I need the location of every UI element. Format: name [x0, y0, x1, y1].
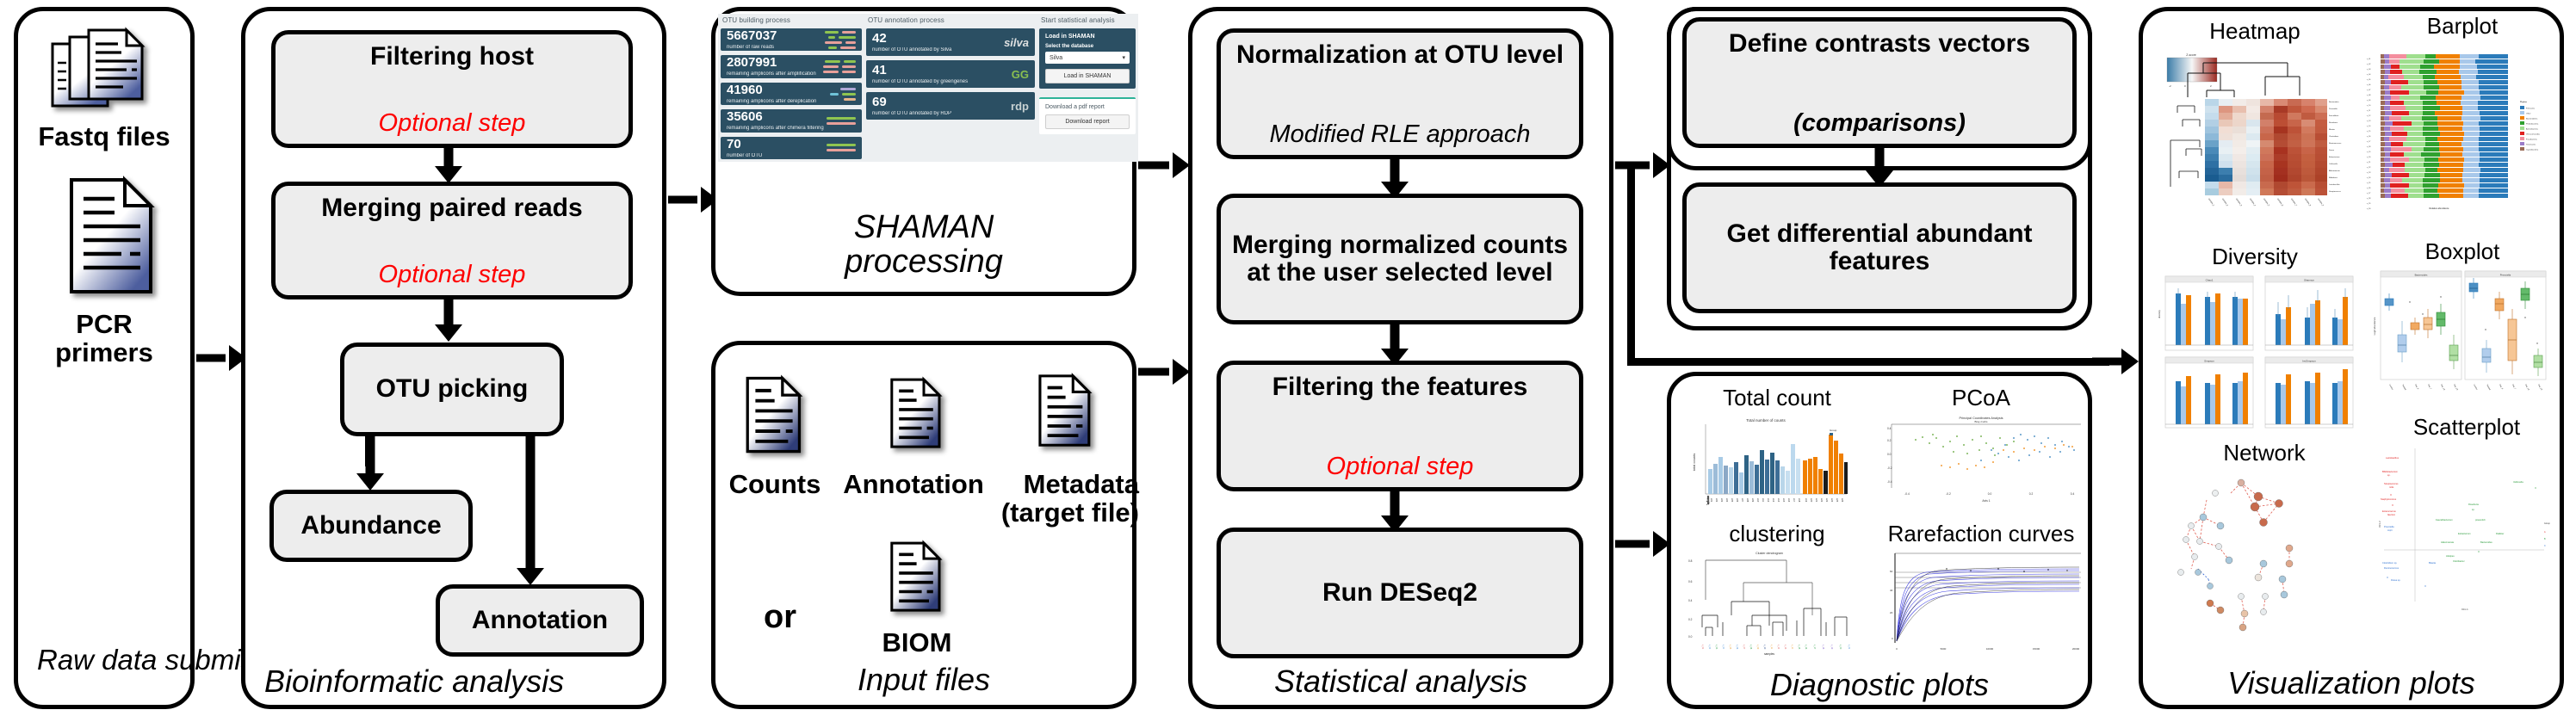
svg-text:sample_01: sample_01	[1706, 496, 1710, 505]
svg-text:samples: samples	[1764, 652, 1774, 656]
svg-text:Bifidobacterium: Bifidobacterium	[2382, 470, 2398, 473]
arrow-bioinformatic-to-shaman	[668, 186, 713, 213]
svg-text:s12: s12	[1767, 498, 1770, 503]
step-title: Annotation	[472, 607, 608, 634]
svg-text:s_14: s_14	[2367, 126, 2371, 127]
svg-text:0.0: 0.0	[1688, 635, 1693, 639]
svg-text:0.2: 0.2	[1688, 618, 1693, 621]
step-merging-paired-reads[interactable]: Merging paired reads Optional step	[271, 182, 633, 299]
panel-contrasts-outer	[1667, 7, 2092, 330]
step-run-deseq2[interactable]: Run DESeq2	[1217, 528, 1583, 658]
svg-text:0.4: 0.4	[1887, 427, 1892, 430]
svg-text:Streptococcus: Streptococcus	[2384, 482, 2399, 485]
svg-text:s_17: s_17	[2367, 141, 2371, 143]
svg-text:Treated: Treated	[2401, 384, 2407, 392]
svg-text:Dorea sp.: Dorea sp.	[2391, 578, 2401, 582]
svg-text:s07: s07	[1741, 498, 1744, 503]
arrow-statistical-to-diagnostic	[1615, 530, 1667, 558]
svg-text:s_01: s_01	[2367, 59, 2371, 60]
svg-text:s24: s24	[1830, 498, 1834, 503]
svg-text:Actinobacteria: Actinobacteria	[2526, 128, 2539, 131]
figure-barplot: Barplot s_01s_02s_03 s_04s_05s_06 s_07s_…	[2365, 15, 2560, 230]
figure-heatmap: Heatmap Z-score -202	[2152, 20, 2358, 235]
svg-text:Control: Control	[2473, 384, 2478, 391]
svg-text:Day_28: Day_28	[2453, 385, 2458, 392]
svg-text:s_10: s_10	[1763, 645, 1766, 650]
svg-text:Day_28: Day_28	[2537, 385, 2542, 392]
svg-text:Prevotella: Prevotella	[2500, 274, 2511, 277]
panel-caption-visualization: Visualization plots	[2143, 667, 2560, 700]
svg-text:s_01: s_01	[1701, 645, 1704, 650]
figure-title: clustering	[1683, 522, 1871, 545]
step-title: Abundance	[300, 512, 441, 540]
svg-text:Prevotella: Prevotella	[2384, 525, 2394, 528]
svg-text:sample_1: sample_1	[2208, 198, 2215, 207]
svg-text:Cluster dendrogram: Cluster dendrogram	[1756, 552, 1783, 555]
svg-text:s_19: s_19	[1830, 645, 1833, 650]
svg-text:sample_9: sample_9	[2317, 198, 2325, 207]
shaman-stat-card[interactable]: 42 number of OTU annotated by Silva silv…	[866, 28, 1035, 56]
shaman-load-title: Load in SHAMAN	[1045, 34, 1130, 40]
svg-text:s_20: s_20	[1839, 645, 1842, 650]
step-title: Filtering host	[370, 43, 534, 71]
svg-text:-0.4: -0.4	[1904, 492, 1910, 496]
svg-text:0: 0	[1896, 647, 1898, 651]
panel-caption-input-files: Input files	[715, 664, 1132, 696]
svg-text:s_02: s_02	[2367, 64, 2371, 65]
shaman-load-panel: Load in SHAMAN Select the database Silva…	[1039, 28, 1136, 89]
svg-text:s23: s23	[1825, 498, 1829, 503]
svg-text:s_21: s_21	[1848, 645, 1850, 650]
svg-text:s_07: s_07	[1743, 645, 1745, 650]
panel-bioinformatic-analysis: Filtering host Optional step Merging pai…	[241, 7, 666, 709]
svg-text:s_23: s_23	[2367, 172, 2371, 174]
shaman-stat-value: 70	[727, 138, 762, 151]
svg-text:Dim 1: Dim 1	[2461, 608, 2468, 611]
document-icon-biom	[888, 538, 944, 617]
svg-text:Collinsella: Collinsella	[2329, 164, 2338, 165]
svg-text:0.2: 0.2	[2029, 492, 2034, 496]
shaman-column-header: OTU building process	[721, 16, 862, 24]
svg-text:s26: s26	[1841, 498, 1844, 503]
input-file-label-annotation: Annotation	[827, 471, 1000, 499]
svg-text:InvSimpson: InvSimpson	[2302, 360, 2316, 363]
shaman-stat-value: 42	[872, 32, 951, 45]
svg-text:s_10: s_10	[2367, 105, 2371, 107]
svg-text:s11: s11	[1762, 498, 1765, 503]
svg-text:s_03: s_03	[2367, 69, 2371, 71]
shaman-stat-desc: number of OTU annotated by greengenes	[872, 79, 968, 85]
svg-text:sample_8: sample_8	[2304, 198, 2312, 207]
svg-text:Chao1: Chao1	[2206, 279, 2214, 282]
shaman-column-otu-annotation: OTU annotation process 42 number of OTU …	[866, 16, 1035, 159]
svg-text:s17: s17	[1793, 498, 1796, 503]
svg-text:s_28: s_28	[2367, 198, 2371, 200]
arrow-merging-to-otu	[430, 299, 468, 343]
figure-clustering: clustering Cluster dendrogram 0.80.60.4 …	[1683, 522, 1871, 660]
svg-text:s_11: s_11	[2367, 110, 2371, 112]
step-abundance[interactable]: Abundance	[269, 490, 473, 562]
svg-text:0.4: 0.4	[2071, 492, 2075, 496]
svg-text:Bacteroidetes: Bacteroidetes	[2526, 118, 2538, 120]
arrow-raw-to-bioinformatic	[196, 344, 241, 372]
svg-text:Odoribacter: Odoribacter	[2453, 559, 2465, 563]
workflow-diagram: Fastq files	[0, 0, 2576, 716]
panel-caption-raw-data: Raw data submission	[18, 645, 190, 676]
svg-text:Group: Group	[2544, 522, 2550, 525]
step-otu-picking[interactable]: OTU picking	[340, 343, 564, 436]
svg-text:s_19: s_19	[2367, 151, 2371, 153]
svg-text:Dorea: Dorea	[2329, 149, 2335, 151]
step-title: Normalization at OTU level	[1236, 41, 1564, 69]
svg-text:s_18: s_18	[2367, 146, 2371, 148]
svg-text:s18: s18	[1798, 498, 1801, 503]
input-files-or-label: or	[733, 600, 827, 634]
svg-text:Eubacterium: Eubacterium	[2458, 532, 2471, 535]
svg-text:Bifidobact.: Bifidobact.	[2329, 176, 2338, 179]
figure-scatterplot: Scatterplot Lactobacillus Bifidobacteriu…	[2375, 416, 2558, 639]
svg-text:s_07: s_07	[2367, 89, 2371, 91]
svg-text:s02: s02	[1715, 498, 1718, 503]
svg-text:s_22: s_22	[2367, 167, 2371, 169]
shaman-stat-card[interactable]: 70 number of OTU	[721, 137, 862, 159]
svg-text:C: C	[2544, 545, 2546, 547]
svg-text:s_09: s_09	[1756, 645, 1759, 650]
shaman-stat-card[interactable]: 2807991 remaining amplicons after amplif…	[721, 55, 862, 77]
svg-text:Faecalibacterium: Faecalibacterium	[2436, 518, 2453, 522]
svg-text:s_16: s_16	[1805, 645, 1807, 650]
greengenes-logo-icon: GG	[1012, 68, 1029, 81]
step-normalization-otu-level[interactable]: Normalization at OTU level Modified RLE …	[1217, 28, 1583, 159]
svg-text:s19: s19	[1805, 498, 1808, 503]
sparkline-icon	[830, 88, 856, 101]
svg-text:-0.2: -0.2	[1887, 466, 1892, 470]
svg-text:s10: s10	[1756, 498, 1760, 503]
svg-text:s20: s20	[1810, 498, 1813, 503]
svg-text:s_15: s_15	[1798, 645, 1800, 650]
shaman-sidebar-header: Start statistical analysis	[1039, 16, 1136, 24]
svg-text:Day_14: Day_14	[2524, 385, 2530, 392]
figure-diversity: Diversity Chao1	[2152, 245, 2358, 435]
svg-text:Day_0: Day_0	[2499, 385, 2503, 391]
svg-text:Day_0: Day_0	[2414, 385, 2418, 391]
document-icon-counts	[743, 374, 805, 457]
sparkline-icon	[823, 60, 856, 73]
arrow-statistical-to-contrasts	[1615, 151, 1667, 179]
svg-text:Bray-Curtis: Bray-Curtis	[1974, 420, 1988, 423]
shaman-stat-card[interactable]: 41960 remaining amplicons after dereplic…	[721, 83, 862, 105]
figure-title: PCoA	[1878, 386, 2084, 409]
step-annotation[interactable]: Annotation	[436, 584, 644, 657]
figure-title: Boxplot	[2365, 240, 2560, 262]
shaman-stat-card[interactable]: 35606 remaining amplicons after chimera …	[721, 109, 862, 132]
svg-text:Ruminococcus: Ruminococcus	[2329, 143, 2342, 145]
svg-text:0.0: 0.0	[1988, 492, 1992, 496]
svg-text:-2: -2	[2169, 84, 2171, 88]
panel-caption-shaman: SHAMAN processing	[715, 211, 1132, 280]
shaman-stat-desc: remaining amplicons after chimera filter…	[727, 126, 824, 132]
input-file-label-counts: Counts	[721, 471, 829, 499]
svg-text:s03: s03	[1720, 498, 1724, 503]
panel-caption-bioinformatic: Bioinformatic analysis	[245, 665, 662, 698]
figure-title: Barplot	[2365, 15, 2560, 37]
figure-total-count: Total count Total number of counts total…	[1683, 386, 1871, 507]
shaman-stat-desc: number of OTU annotated by RDP	[872, 111, 951, 117]
svg-text:s_03: s_03	[1715, 645, 1718, 650]
step-title: Merging paired reads	[321, 194, 582, 222]
svg-text:Bacteroides: Bacteroides	[2480, 540, 2492, 544]
shaman-stat-value: 35606	[727, 110, 824, 123]
svg-text:Verrucomicrobia: Verrucomicrobia	[2526, 133, 2541, 136]
svg-text:B: B	[2544, 538, 2546, 540]
shaman-column-header: OTU annotation process	[866, 16, 1035, 24]
svg-text:0.2: 0.2	[1887, 439, 1892, 442]
raw-data-item-label-1: PCR primers	[18, 311, 190, 367]
svg-text:s_14: s_14	[1791, 645, 1793, 650]
step-subtitle: Optional step	[379, 262, 526, 288]
sparkline-icon	[827, 117, 856, 125]
svg-text:s09: s09	[1751, 498, 1755, 503]
panel-visualization-plots: Heatmap Z-score -202	[2139, 7, 2564, 709]
svg-text:Akkermansia: Akkermansia	[2329, 170, 2340, 172]
input-file-label-biom: BIOM	[850, 629, 984, 657]
svg-text:sample_4: sample_4	[2249, 198, 2257, 207]
svg-text:sample_2: sample_2	[2221, 198, 2229, 207]
svg-text:s05: s05	[1731, 498, 1734, 503]
shaman-stat-value: 2807991	[727, 56, 816, 69]
svg-text:s01: s01	[1710, 498, 1713, 503]
svg-text:Lactobacillus: Lactobacillus	[2329, 183, 2341, 186]
svg-text:s_25: s_25	[2367, 182, 2371, 184]
svg-text:s_08: s_08	[1749, 645, 1752, 650]
panel-statistical-analysis: Normalization at OTU level Modified RLE …	[1188, 7, 1613, 709]
figure-title: Rarefaction curves	[1878, 522, 2084, 545]
arrow-filtering-to-deseq	[1376, 490, 1414, 533]
svg-text:Axis 1: Axis 1	[1982, 499, 1990, 503]
svg-text:Control: Control	[2388, 384, 2393, 391]
svg-text:s_30: s_30	[2367, 208, 2371, 210]
svg-text:s_13: s_13	[2367, 120, 2371, 122]
svg-text:s08: s08	[1746, 498, 1749, 503]
svg-text:s14: s14	[1777, 498, 1780, 503]
svg-text:s_05: s_05	[1729, 645, 1731, 650]
panel-shaman-processing: OTU building process 5667037 number of r…	[711, 7, 1136, 296]
svg-text:10000: 10000	[1986, 647, 1994, 651]
figure-title: Heatmap	[2152, 20, 2358, 42]
figure-pcoa: PCoA Principal Coordinates Analysis Bray…	[1878, 386, 2084, 507]
svg-text:Shannon: Shannon	[2304, 279, 2314, 282]
svg-text:-0.4: -0.4	[1887, 480, 1892, 484]
svg-text:s16: s16	[1787, 498, 1791, 503]
arrow-merging-to-filtering	[1376, 323, 1414, 366]
svg-text:Clostridium sp.: Clostridium sp.	[2382, 561, 2397, 565]
svg-text:s_20: s_20	[2367, 157, 2371, 158]
svg-text:Relative abundance: Relative abundance	[2430, 207, 2449, 210]
svg-text:Dim 2: Dim 2	[2378, 521, 2381, 528]
step-title: Filtering the features	[1273, 373, 1528, 401]
download-report-button[interactable]: Download report	[1045, 114, 1130, 129]
figure-title: Total count	[1683, 386, 1871, 409]
svg-text:Roseburia: Roseburia	[2468, 503, 2479, 506]
arrow-otu-to-annotation	[511, 432, 549, 587]
connector-to-visualization-h	[1627, 358, 2109, 366]
svg-text:sp.: sp.	[2387, 474, 2391, 477]
step-subtitle: Optional step	[379, 110, 526, 137]
svg-text:60: 60	[1890, 570, 1893, 573]
figure-title: Network	[2162, 441, 2367, 464]
step-subtitle: Modified RLE approach	[1269, 121, 1530, 148]
figure-network: Network	[2162, 441, 2367, 682]
svg-text:Total number of counts: Total number of counts	[1746, 418, 1786, 423]
panel-caption-statistical: Statistical analysis	[1192, 665, 1609, 698]
svg-text:Simpson: Simpson	[2204, 360, 2214, 363]
shaman-stat-card[interactable]: 5667037 number of raw reads	[721, 28, 862, 51]
svg-text:Lactobacillus: Lactobacillus	[2386, 456, 2400, 460]
svg-text:Enterococcus: Enterococcus	[2382, 509, 2396, 513]
input-file-label-metadata: Metadata (target file)	[988, 471, 1139, 528]
shaman-stat-value: 41960	[727, 83, 816, 96]
shaman-stat-desc: number of OTU annotated by Silva	[872, 47, 951, 53]
svg-text:Treated: Treated	[2486, 384, 2492, 392]
figure-boxplot: Boxplot Bacteroides Prevotella	[2365, 240, 2560, 417]
svg-text:-0.2: -0.2	[1946, 492, 1951, 496]
rdp-logo-icon: rdp	[1011, 100, 1029, 113]
svg-text:Day_7: Day_7	[2511, 385, 2516, 391]
shaman-stat-desc: remaining amplicons after amplification	[727, 71, 816, 77]
svg-text:s_27: s_27	[2367, 193, 2371, 194]
svg-text:Roseburia: Roseburia	[2329, 121, 2338, 124]
svg-text:0.8: 0.8	[1688, 559, 1693, 563]
svg-text:Blautia: Blautia	[2429, 561, 2436, 565]
svg-text:sample_5: sample_5	[2263, 198, 2270, 207]
panel-input-files: Counts Annotation	[711, 341, 1136, 709]
figure-title: Diversity	[2152, 245, 2358, 268]
arrow-shaman-to-statistical	[1138, 151, 1186, 179]
sparkline-icon	[827, 144, 856, 151]
svg-text:s13: s13	[1772, 498, 1775, 503]
svg-text:Alistipes: Alistipes	[2446, 554, 2455, 558]
svg-text:20000: 20000	[2072, 647, 2080, 651]
svg-text:s22: s22	[1820, 498, 1824, 503]
shaman-download-panel: Download a pdf report Download report	[1039, 97, 1136, 134]
svg-text:copri: copri	[2387, 528, 2393, 532]
panel-diagnostic-plots: Total count Total number of counts total…	[1667, 372, 2092, 709]
svg-text:Eubacterium: Eubacterium	[2329, 156, 2339, 158]
step-merging-normalized-counts[interactable]: Merging normalized counts at the user se…	[1217, 194, 1583, 324]
svg-text:s04: s04	[1725, 498, 1729, 503]
shaman-screenshot[interactable]: OTU building process 5667037 number of r…	[718, 14, 1138, 162]
document-icon-metadata	[1036, 371, 1094, 452]
step-subtitle: Optional step	[1327, 454, 1474, 480]
svg-text:Firmicutes: Firmicutes	[2526, 108, 2536, 110]
svg-text:s_26: s_26	[2367, 188, 2371, 189]
svg-text:0.4: 0.4	[1688, 599, 1693, 602]
svg-text:Other: Other	[2526, 113, 2531, 115]
svg-text:Faecalibact.: Faecalibact.	[2329, 114, 2339, 117]
svg-text:s_06: s_06	[2367, 84, 2371, 86]
svg-text:prausnitzii: prausnitzii	[2475, 518, 2486, 522]
svg-text:s_12: s_12	[2367, 115, 2371, 117]
chevron-down-icon: ▾	[1122, 54, 1125, 61]
svg-text:Clostridium: Clostridium	[2329, 135, 2338, 138]
database-select-value: Silva	[1050, 55, 1062, 61]
svg-text:Cyanobacteria: Cyanobacteria	[2526, 149, 2539, 151]
svg-text:faecium: faecium	[2387, 513, 2395, 516]
svg-text:15000: 15000	[2033, 647, 2040, 651]
shaman-sidebar: Start statistical analysis Load in SHAMA…	[1039, 16, 1136, 159]
figure-rarefaction-curves: Rarefaction curves	[1878, 522, 2084, 660]
svg-text:s_17: s_17	[1813, 645, 1816, 650]
svg-text:sample_7: sample_7	[2290, 198, 2298, 207]
multi-document-icon	[47, 25, 168, 120]
arrow-to-visualization	[2092, 348, 2139, 375]
svg-text:Bacteroides: Bacteroides	[2415, 274, 2428, 277]
load-in-shaman-button[interactable]: Load in SHAMAN	[1045, 69, 1130, 83]
svg-text:s_08: s_08	[2367, 95, 2371, 96]
svg-text:s_12: s_12	[1777, 645, 1780, 650]
svg-text:0: 0	[2184, 84, 2186, 88]
svg-text:5000: 5000	[1941, 647, 1947, 651]
svg-text:Staphylococcus: Staphylococcus	[2381, 497, 2397, 501]
shaman-select-label: Select the database	[1045, 44, 1130, 49]
shaman-stat-desc: number of raw reads	[727, 45, 777, 51]
document-icon	[65, 175, 159, 299]
svg-text:sample_6: sample_6	[2276, 198, 2284, 207]
shaman-stat-desc: remaining amplicons after dereplication	[727, 99, 816, 105]
database-select[interactable]: Silva ▾	[1045, 52, 1130, 64]
panel-raw-data: Fastq files	[14, 7, 195, 709]
svg-text:Day_14: Day_14	[2440, 385, 2445, 392]
shaman-stat-card[interactable]: 69 number of OTU annotated by RDP rdp	[866, 92, 1035, 120]
shaman-stat-value: 69	[872, 96, 951, 108]
step-filtering-features[interactable]: Filtering the features Optional step	[1217, 361, 1583, 491]
svg-text:s_16: s_16	[2367, 136, 2371, 138]
svg-text:s_04: s_04	[2367, 74, 2371, 76]
raw-data-item-label-0: Fastq files	[18, 123, 190, 151]
step-title: OTU picking	[376, 375, 529, 403]
svg-text:s_29: s_29	[2367, 203, 2371, 205]
svg-text:sample_3: sample_3	[2235, 198, 2243, 207]
shaman-column-otu-building: OTU building process 5667037 number of r…	[721, 16, 862, 159]
panel-caption-diagnostic: Diagnostic plots	[1671, 669, 2088, 701]
arrow-input-to-statistical	[1138, 358, 1186, 386]
svg-text:40: 40	[1890, 589, 1893, 592]
step-title: Run DESeq2	[1322, 579, 1477, 607]
svg-text:2: 2	[2210, 84, 2212, 88]
arrow-filtering-to-merging	[430, 147, 468, 183]
connector-to-visualization-v	[1627, 164, 1635, 363]
figure-title: Scatterplot	[2375, 416, 2558, 438]
svg-text:s_11: s_11	[1770, 645, 1773, 650]
svg-text:0: 0	[1892, 637, 1893, 640]
shaman-stat-card[interactable]: 41 number of OTU annotated by greengenes…	[866, 60, 1035, 88]
svg-text:diversity: diversity	[2158, 310, 2161, 318]
step-filtering-host[interactable]: Filtering host Optional step	[271, 30, 633, 148]
svg-text:s_18: s_18	[1822, 645, 1824, 650]
svg-text:s_15: s_15	[2367, 131, 2371, 133]
svg-text:s06: s06	[1736, 498, 1739, 503]
arrow-otu-to-abundance	[351, 432, 389, 492]
shaman-download-title: Download a pdf report	[1045, 104, 1130, 110]
svg-text:s25: s25	[1836, 498, 1839, 503]
svg-text:mitis: mitis	[2389, 485, 2394, 489]
svg-text:total counts: total counts	[1692, 454, 1696, 471]
svg-text:Fusobacteria: Fusobacteria	[2526, 139, 2537, 141]
svg-text:Dialister: Dialister	[2496, 532, 2505, 535]
shaman-stat-desc: number of OTU	[727, 153, 762, 159]
svg-text:Blautia: Blautia	[2329, 128, 2335, 131]
svg-text:20: 20	[1890, 611, 1893, 614]
